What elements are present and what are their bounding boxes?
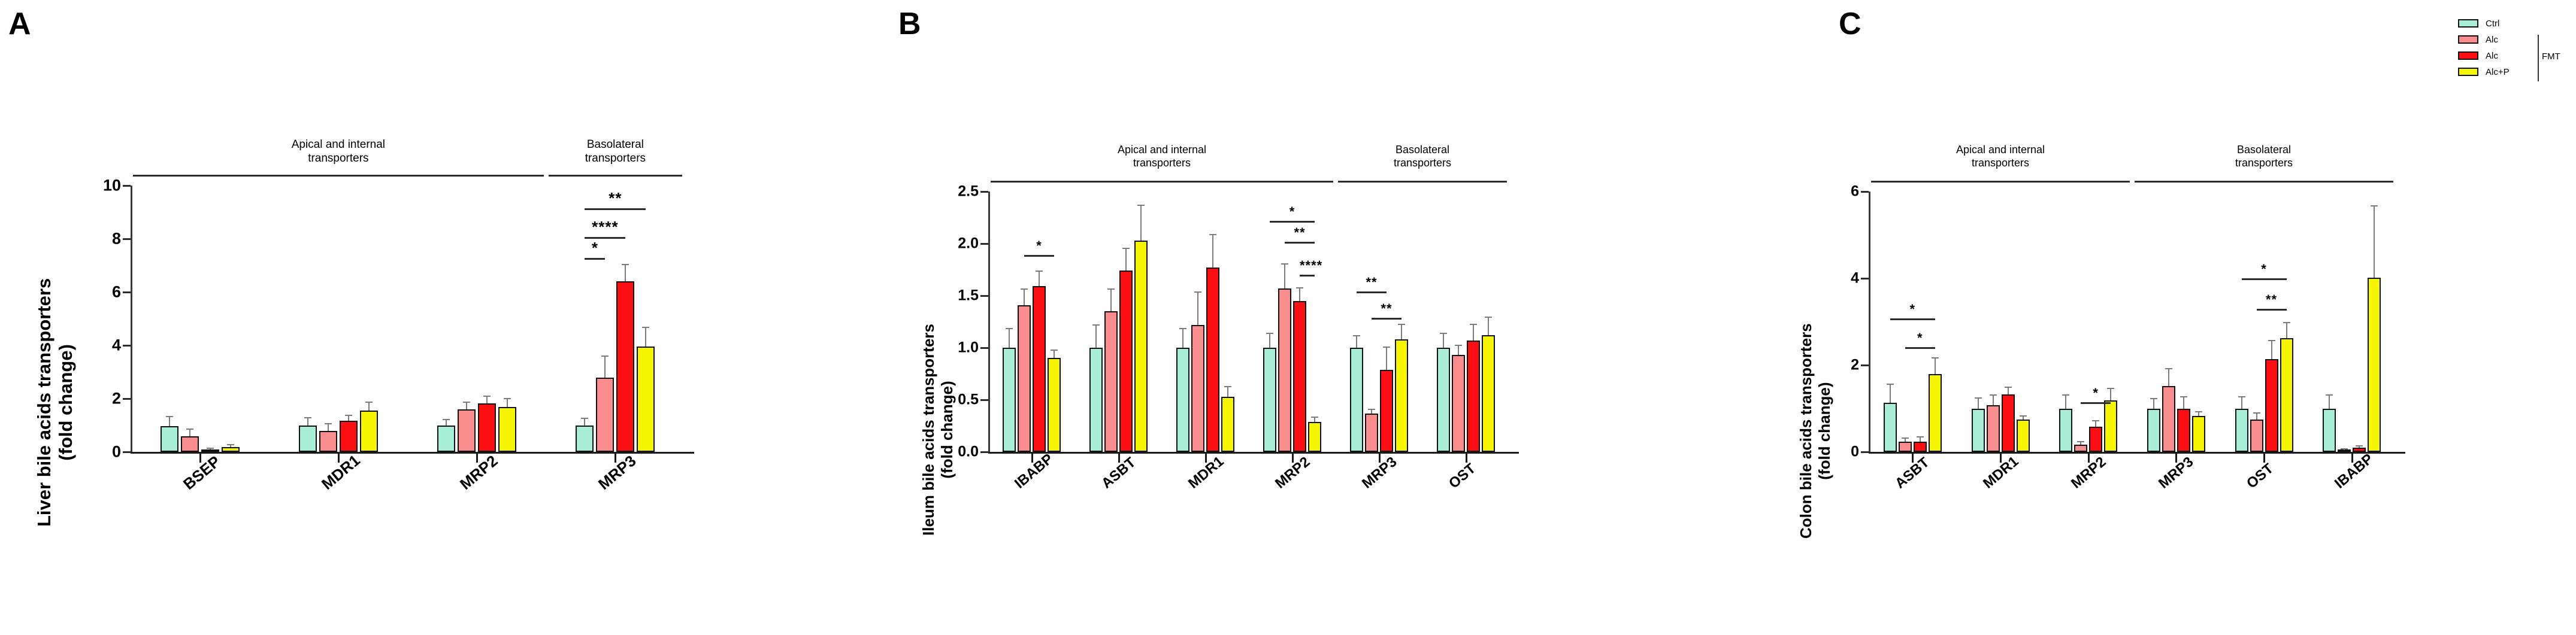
error-bar — [1284, 265, 1285, 288]
bar — [1018, 305, 1031, 452]
bar — [1293, 301, 1306, 452]
bar — [616, 281, 634, 452]
legend-item[interactable]: Alc — [2458, 33, 2498, 46]
error-bar — [1212, 235, 1213, 268]
category-group-label: Basolateraltransporters — [2135, 144, 2393, 170]
bar — [1308, 422, 1321, 452]
bar — [437, 426, 455, 452]
error-bar-cap — [1281, 263, 1288, 265]
significance-bracket — [2081, 402, 2111, 404]
error-bar-cap — [1975, 397, 1982, 399]
bar — [2250, 420, 2263, 452]
y-axis-line — [131, 186, 132, 452]
error-bar-cap — [1902, 437, 1909, 439]
category-group-label-line1: Apical and internal — [991, 144, 1333, 157]
error-bar — [1269, 334, 1270, 348]
error-bar — [584, 419, 585, 426]
error-bar — [189, 430, 190, 436]
error-bar-cap — [2150, 398, 2157, 399]
error-bar — [169, 417, 170, 426]
legend-swatch — [2458, 68, 2478, 76]
y-axis-tick — [980, 399, 988, 401]
error-bar-cap — [2371, 205, 2378, 206]
y-axis-tick — [1861, 278, 1869, 279]
y-axis-tick-label: 0 — [112, 443, 121, 461]
error-bar — [230, 445, 231, 447]
bar — [299, 426, 317, 452]
bar — [1089, 348, 1103, 452]
error-bar-cap — [1021, 288, 1028, 290]
error-bar-cap — [1368, 409, 1375, 410]
bar — [2192, 416, 2205, 452]
error-bar — [2198, 412, 2199, 416]
error-bar — [1054, 351, 1055, 358]
bar — [181, 436, 199, 452]
error-bar-cap — [2195, 411, 2202, 412]
error-bar-cap — [1353, 335, 1360, 336]
error-bar-cap — [1990, 394, 1997, 396]
legend-swatch — [2458, 35, 2478, 44]
bar — [1467, 341, 1480, 452]
error-bar — [1920, 437, 1921, 442]
error-bar — [2065, 396, 2066, 409]
error-bar — [1039, 272, 1040, 286]
error-bar — [2023, 417, 2024, 420]
legend-swatch — [2458, 19, 2478, 28]
error-bar-cap — [2326, 394, 2333, 396]
y-axis-tick — [123, 345, 131, 347]
significance-bracket — [1905, 347, 1935, 349]
bar — [161, 426, 178, 452]
error-bar — [210, 449, 211, 450]
bar — [319, 431, 337, 452]
panel-c-y-axis-label: Colon bile acids transporters (fold chan… — [1797, 323, 1834, 539]
bar — [478, 403, 496, 452]
y-axis-tick-label: 2.0 — [958, 235, 979, 253]
y-axis-tick — [123, 398, 131, 400]
category-group-label-line2: transporters — [133, 151, 544, 165]
bar — [1929, 374, 1942, 452]
error-bar — [348, 416, 349, 420]
error-bar — [2153, 399, 2154, 409]
category-group-bracket — [1338, 181, 1507, 183]
error-bar — [1993, 396, 1994, 405]
significance-bracket — [1300, 275, 1315, 277]
y-axis-tick — [123, 238, 131, 240]
error-bar-cap — [1932, 357, 1939, 358]
x-axis-category-label: MRP2 — [456, 452, 501, 494]
significance-bracket — [1285, 242, 1315, 244]
error-bar-cap — [601, 356, 609, 357]
error-bar — [2256, 414, 2257, 419]
bar — [1437, 348, 1450, 452]
category-group-label-line2: transporters — [991, 157, 1333, 170]
bar — [1914, 442, 1927, 452]
legend-item[interactable]: Alc+P — [2458, 65, 2510, 78]
error-bar-cap — [1311, 417, 1318, 418]
error-bar-cap — [642, 327, 649, 328]
legend-label: Ctrl — [2486, 19, 2499, 29]
figure-root: A Liver bile acids transporters (fold ch… — [0, 0, 2576, 635]
error-bar-cap — [1485, 317, 1492, 318]
error-bar-cap — [581, 418, 588, 419]
error-bar-cap — [1440, 333, 1447, 334]
error-bar-cap — [1266, 333, 1273, 334]
y-axis-tick-label: 4 — [112, 336, 121, 355]
y-axis-tick — [980, 191, 988, 193]
error-bar — [368, 403, 370, 411]
y-axis-tick-label: 2.5 — [958, 183, 979, 200]
bar — [1033, 286, 1046, 452]
panel-b-y-axis-label-line1: Ileum bile acids transporters — [919, 324, 938, 536]
significance-stars: ** — [585, 189, 646, 208]
error-bar-cap — [2356, 445, 2363, 446]
error-bar — [486, 397, 488, 403]
significance-stars: * — [2081, 385, 2111, 401]
significance-bracket — [585, 258, 605, 260]
significance-bracket — [1372, 318, 1401, 320]
error-bar — [2271, 341, 2272, 359]
error-bar — [645, 328, 646, 347]
x-axis-category-label: IBABP — [2332, 451, 2377, 492]
panel-c: C Colon bile acids transporters (fold ch… — [1617, 0, 2456, 635]
bar — [2280, 338, 2293, 452]
bar — [2059, 409, 2072, 452]
significance-bracket — [1890, 318, 1935, 320]
error-bar-cap — [1887, 384, 1894, 385]
error-bar-cap — [1398, 324, 1405, 325]
error-bar — [1182, 329, 1183, 348]
panel-a-y-axis-label-line1: Liver bile acids transporters — [34, 278, 55, 527]
significance-stars: * — [1024, 238, 1054, 254]
y-axis-line — [988, 192, 990, 452]
category-group-label-line1: Basolateral — [1338, 144, 1507, 157]
bar — [2017, 420, 2030, 452]
category-group-label-line2: transporters — [549, 151, 682, 165]
error-bar — [1473, 325, 1474, 341]
error-bar — [2286, 323, 2287, 338]
error-bar-cap — [2092, 420, 2099, 421]
bar — [1003, 348, 1016, 452]
bar — [1452, 355, 1465, 452]
y-axis-tick — [980, 451, 988, 453]
bar — [1119, 271, 1133, 452]
panel-a: A Liver bile acids transporters (fold ch… — [0, 0, 809, 635]
error-bar-cap — [1194, 291, 1201, 293]
error-bar-cap — [483, 396, 491, 397]
significance-stars: ** — [1372, 301, 1401, 317]
significance-bracket — [585, 208, 646, 210]
error-bar-cap — [166, 416, 173, 417]
bar — [637, 347, 655, 452]
error-bar — [1371, 410, 1372, 413]
error-bar-cap — [186, 429, 193, 430]
panel-c-y-axis-label-line2: (fold change) — [1815, 323, 1834, 539]
bar — [1048, 358, 1061, 452]
error-bar — [1125, 249, 1127, 271]
bar — [1395, 339, 1408, 452]
error-bar-cap — [1455, 345, 1462, 346]
category-group-label-line1: Basolateral — [549, 138, 682, 151]
category-group-bracket — [1871, 181, 2130, 183]
error-bar — [1197, 293, 1198, 325]
bar — [222, 447, 240, 452]
bar — [1884, 403, 1897, 452]
y-axis-tick-label: 10 — [103, 177, 121, 195]
fmt-label: FMT — [2542, 51, 2560, 62]
panel-b-letter: B — [898, 8, 921, 40]
y-axis-tick-label: 4 — [1851, 270, 1859, 287]
panel-a-y-axis-label: Liver bile acids transporters (fold chan… — [34, 278, 77, 527]
category-group-bracket — [133, 175, 544, 177]
error-bar — [625, 265, 626, 282]
significance-bracket — [1357, 291, 1387, 293]
error-bar-cap — [1036, 271, 1043, 272]
legend-item[interactable]: Ctrl — [2458, 17, 2499, 30]
error-bar-cap — [227, 444, 234, 445]
bar — [576, 426, 594, 452]
panel-a-letter: A — [8, 8, 31, 40]
y-axis-tick-label: 2 — [112, 390, 121, 408]
error-bar-cap — [325, 423, 332, 424]
error-bar — [1140, 206, 1142, 240]
category-group-label-line2: transporters — [1871, 157, 2130, 170]
x-axis-category-label: MDR1 — [318, 451, 364, 494]
y-axis-line — [1869, 192, 1870, 452]
bar — [2104, 400, 2117, 452]
error-bar-cap — [1137, 205, 1145, 206]
x-axis-category-label: IBABP — [1012, 451, 1057, 492]
error-bar — [2095, 421, 2096, 427]
bar — [2323, 409, 2336, 452]
bar — [1221, 397, 1234, 452]
category-group-label-line1: Basolateral — [2135, 144, 2393, 157]
category-group-label: Apical and internaltransporters — [133, 138, 544, 165]
error-bar-cap — [2077, 441, 2084, 442]
category-group-label: Apical and internaltransporters — [1871, 144, 2130, 170]
y-axis-tick — [1861, 451, 1869, 453]
bar — [2002, 394, 2015, 452]
y-axis-tick-label: 6 — [1851, 183, 1859, 200]
significance-stars: * — [1890, 302, 1935, 317]
y-axis-tick — [980, 347, 988, 349]
category-group-label: Apical and internaltransporters — [991, 144, 1333, 170]
bar — [596, 378, 614, 452]
error-bar-cap — [207, 448, 214, 449]
error-bar — [1356, 336, 1357, 348]
category-group-label-line2: transporters — [2135, 157, 2393, 170]
error-bar — [2080, 442, 2081, 445]
error-bar-cap — [1917, 436, 1924, 437]
error-bar — [1110, 290, 1112, 312]
error-bar — [466, 403, 467, 409]
y-axis-tick-label: 8 — [112, 230, 121, 248]
panel-b-plot-area: 0.00.51.01.52.02.5 — [988, 192, 1509, 452]
significance-bracket — [1024, 255, 1054, 257]
category-group-label-line2: transporters — [1338, 157, 1507, 170]
bar — [2177, 409, 2190, 452]
x-axis-category-label: OST — [2244, 460, 2277, 492]
x-axis-line — [988, 452, 1519, 454]
x-axis-category-label: BSEP — [180, 452, 224, 493]
error-bar-cap — [1383, 347, 1390, 348]
y-axis-tick-label: 2 — [1851, 357, 1859, 374]
significance-bracket — [2242, 278, 2287, 280]
error-bar — [1443, 334, 1444, 348]
error-bar — [1905, 439, 1906, 442]
category-group-label: Basolateraltransporters — [1338, 144, 1507, 170]
significance-stars: * — [1905, 330, 1935, 346]
significance-stars: **** — [1300, 258, 1315, 274]
category-group-label: Basolateraltransporters — [549, 138, 682, 165]
y-axis-tick — [980, 295, 988, 297]
error-bar — [1458, 346, 1459, 356]
legend-swatch — [2458, 51, 2478, 60]
bar — [458, 409, 476, 452]
error-bar-cap — [2020, 415, 2027, 417]
error-bar — [2344, 449, 2345, 450]
error-bar — [1935, 358, 1936, 373]
error-bar — [2374, 206, 2375, 277]
error-bar — [2329, 396, 2330, 409]
x-axis-line — [131, 452, 694, 454]
error-bar-cap — [443, 419, 450, 420]
error-bar — [1024, 290, 1025, 305]
error-bar-cap — [1092, 324, 1100, 326]
category-group-bracket — [991, 181, 1333, 183]
legend-label: Alc — [2486, 35, 2498, 45]
error-bar — [1488, 318, 1489, 336]
panel-b-y-axis-label: Ileum bile acids transporters (fold chan… — [919, 324, 956, 536]
bar — [2162, 386, 2175, 452]
bar — [1278, 288, 1291, 452]
error-bar — [2183, 397, 2184, 409]
error-bar — [1095, 326, 1097, 348]
category-group-label-line1: Apical and internal — [133, 138, 544, 151]
error-bar — [1009, 329, 1010, 348]
legend-item[interactable]: Alc — [2458, 49, 2498, 62]
significance-bracket — [1270, 221, 1315, 223]
error-bar-cap — [1006, 328, 1013, 329]
error-bar — [2359, 446, 2360, 448]
error-bar — [1978, 399, 1979, 409]
error-bar-cap — [504, 398, 511, 399]
y-axis-tick — [123, 451, 131, 453]
bar — [1987, 405, 2000, 452]
significance-stars: ** — [1285, 225, 1315, 241]
bar — [1176, 348, 1189, 452]
bar — [2265, 359, 2278, 452]
panel-b: B Ileum bile acids transporters (fold ch… — [809, 0, 1617, 635]
error-bar-cap — [2165, 368, 2172, 369]
error-bar-cap — [2005, 387, 2012, 388]
bar — [1365, 414, 1378, 452]
bar — [2074, 445, 2087, 452]
y-axis-tick — [123, 185, 131, 187]
legend-label: Alc — [2486, 51, 2498, 61]
bar — [340, 421, 358, 452]
significance-stars: ** — [2257, 292, 2287, 308]
x-axis-line — [1869, 452, 2405, 454]
y-axis-tick — [1861, 364, 1869, 366]
y-axis-tick-label: 1.0 — [958, 339, 979, 357]
error-bar — [507, 399, 508, 407]
error-bar — [328, 424, 329, 431]
fmt-bracket — [2538, 35, 2539, 81]
error-bar-cap — [1051, 350, 1058, 351]
error-bar — [2008, 388, 2009, 394]
error-bar — [2168, 369, 2169, 386]
error-bar-cap — [1470, 324, 1477, 325]
error-bar — [1299, 288, 1300, 301]
bar — [1206, 268, 1219, 452]
bar — [2235, 409, 2248, 452]
error-bar — [604, 357, 606, 378]
error-bar — [307, 418, 308, 426]
error-bar — [1401, 325, 1402, 339]
bar — [2147, 409, 2160, 452]
panel-b-y-axis-label-line2: (fold change) — [938, 324, 956, 536]
error-bar — [1890, 385, 1891, 403]
error-bar-cap — [304, 417, 311, 418]
y-axis-tick — [123, 291, 131, 293]
error-bar-cap — [2253, 412, 2260, 414]
significance-stars: * — [585, 239, 605, 257]
category-group-bracket — [2135, 181, 2393, 183]
panel-c-y-axis-label-line1: Colon bile acids transporters — [1797, 323, 1815, 539]
significance-bracket — [2257, 309, 2287, 311]
bar — [2368, 278, 2381, 452]
bar — [2089, 427, 2102, 452]
error-bar-cap — [2062, 394, 2069, 396]
error-bar-cap — [1107, 288, 1115, 290]
error-bar — [1227, 387, 1228, 397]
bar — [1380, 370, 1393, 452]
significance-stars: * — [1270, 204, 1315, 220]
bar — [201, 449, 219, 452]
panel-c-plot-area: 0246 — [1869, 192, 2396, 452]
bar — [1104, 311, 1118, 452]
bar — [360, 411, 378, 452]
error-bar-cap — [1224, 386, 1231, 387]
error-bar-cap — [2268, 340, 2275, 341]
legend: FMT CtrlAlcAlcAlc+P — [2458, 17, 2572, 101]
error-bar-cap — [2283, 322, 2290, 323]
panel-c-letter: C — [1839, 8, 1861, 40]
significance-stars: **** — [585, 218, 625, 236]
bar — [1350, 348, 1363, 452]
x-axis-category-label: MRP3 — [595, 452, 640, 494]
panel-a-y-axis-label-line2: (fold change) — [55, 278, 77, 527]
error-bar-cap — [2180, 396, 2187, 397]
error-bar-cap — [345, 415, 352, 416]
bar — [1263, 348, 1276, 452]
error-bar-cap — [2341, 448, 2348, 449]
error-bar-cap — [463, 402, 470, 403]
error-bar — [446, 420, 447, 426]
error-bar-cap — [365, 402, 373, 403]
significance-stars: * — [2242, 262, 2287, 277]
y-axis-tick-label: 0 — [1851, 443, 1859, 461]
error-bar — [1386, 348, 1387, 370]
significance-stars: ** — [1357, 275, 1387, 290]
legend-label: Alc+P — [2486, 67, 2510, 77]
error-bar-cap — [1209, 234, 1216, 235]
y-axis-tick — [980, 243, 988, 245]
error-bar-cap — [622, 264, 629, 265]
bar — [1482, 335, 1495, 452]
y-axis-tick-label: 1.5 — [958, 287, 979, 305]
